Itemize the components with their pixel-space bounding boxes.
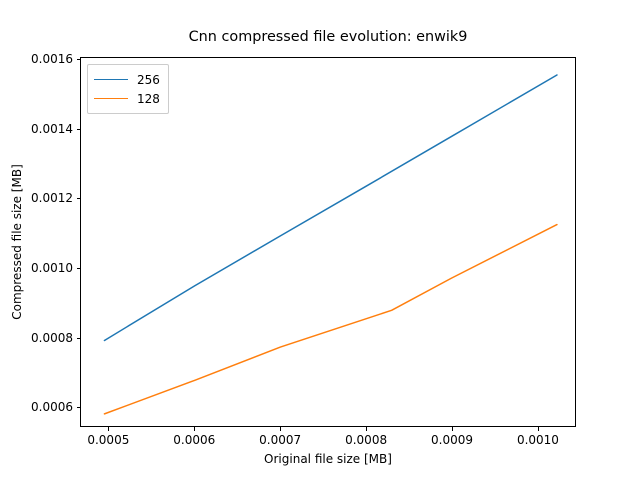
legend-item-256: 256 <box>94 70 160 89</box>
x-tick-mark <box>538 427 539 431</box>
y-tick-label: 0.0010 <box>31 261 73 275</box>
line-series-128 <box>104 225 556 414</box>
x-tick-mark <box>194 427 195 431</box>
x-tick-label: 0.0007 <box>259 433 301 447</box>
y-tick-label: 0.0008 <box>31 331 73 345</box>
legend-item-128: 128 <box>94 89 160 108</box>
x-tick-mark <box>452 427 453 431</box>
legend-line-swatch <box>94 98 128 99</box>
matplotlib-figure: Cnn compressed file evolution: enwik9 Or… <box>0 0 640 480</box>
y-tick-mark <box>77 338 81 339</box>
line-series-256 <box>104 75 556 340</box>
x-tick-label: 0.0008 <box>345 433 387 447</box>
y-tick-mark <box>77 198 81 199</box>
y-tick-mark <box>77 129 81 130</box>
legend-line-swatch <box>94 79 128 80</box>
y-tick-mark <box>77 59 81 60</box>
y-tick-label: 0.0006 <box>31 400 73 414</box>
legend-item-label: 256 <box>137 73 160 87</box>
y-tick-label: 0.0012 <box>31 191 73 205</box>
x-axis-label: Original file size [MB] <box>80 452 576 466</box>
x-tick-label: 0.0006 <box>173 433 215 447</box>
y-axis-label: Compressed file size [MB] <box>10 164 24 320</box>
x-tick-mark <box>280 427 281 431</box>
x-tick-label: 0.0010 <box>517 433 559 447</box>
x-tick-mark <box>108 427 109 431</box>
chart-title: Cnn compressed file evolution: enwik9 <box>80 30 576 44</box>
y-tick-label: 0.0016 <box>31 52 73 66</box>
y-tick-label: 0.0014 <box>31 122 73 136</box>
x-tick-label: 0.0005 <box>87 433 129 447</box>
legend: 256128 <box>87 64 169 114</box>
y-tick-mark <box>77 268 81 269</box>
y-tick-mark <box>77 407 81 408</box>
legend-item-label: 128 <box>137 92 160 106</box>
x-tick-mark <box>366 427 367 431</box>
x-tick-label: 0.0009 <box>431 433 473 447</box>
